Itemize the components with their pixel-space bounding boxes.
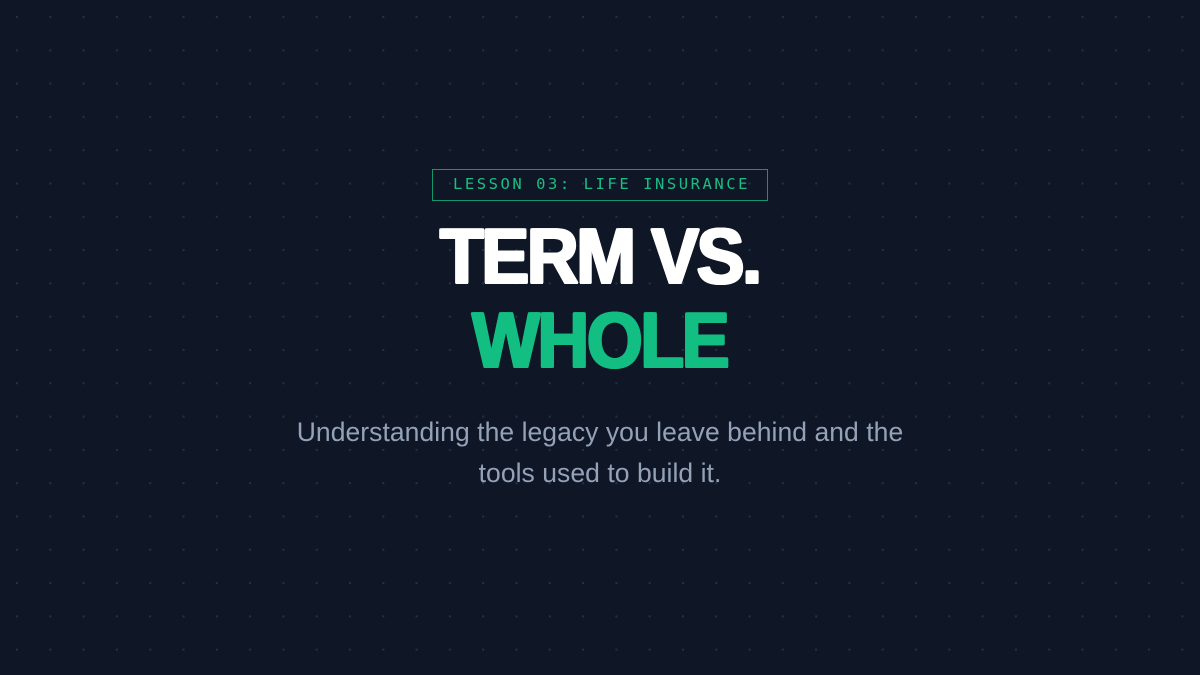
slide-headline: TERM VS. WHOLE	[426, 219, 774, 378]
headline-line-accent: WHOLE	[472, 303, 727, 378]
subtitle-line-1: Understanding the legacy you leave behin…	[280, 412, 920, 453]
title-slide: LESSON 03: LIFE INSURANCE TERM VS. WHOLE…	[0, 0, 1200, 675]
lesson-badge-label: LESSON 03: LIFE INSURANCE	[453, 177, 750, 193]
subtitle-line-2: tools used to build it.	[280, 453, 920, 494]
headline-line-primary: TERM VS.	[440, 219, 760, 294]
slide-content-stage: LESSON 03: LIFE INSURANCE TERM VS. WHOLE…	[0, 0, 1200, 675]
centered-content-block: LESSON 03: LIFE INSURANCE TERM VS. WHOLE…	[280, 169, 920, 494]
slide-subtitle: Understanding the legacy you leave behin…	[280, 412, 920, 494]
lesson-badge: LESSON 03: LIFE INSURANCE	[432, 169, 768, 201]
